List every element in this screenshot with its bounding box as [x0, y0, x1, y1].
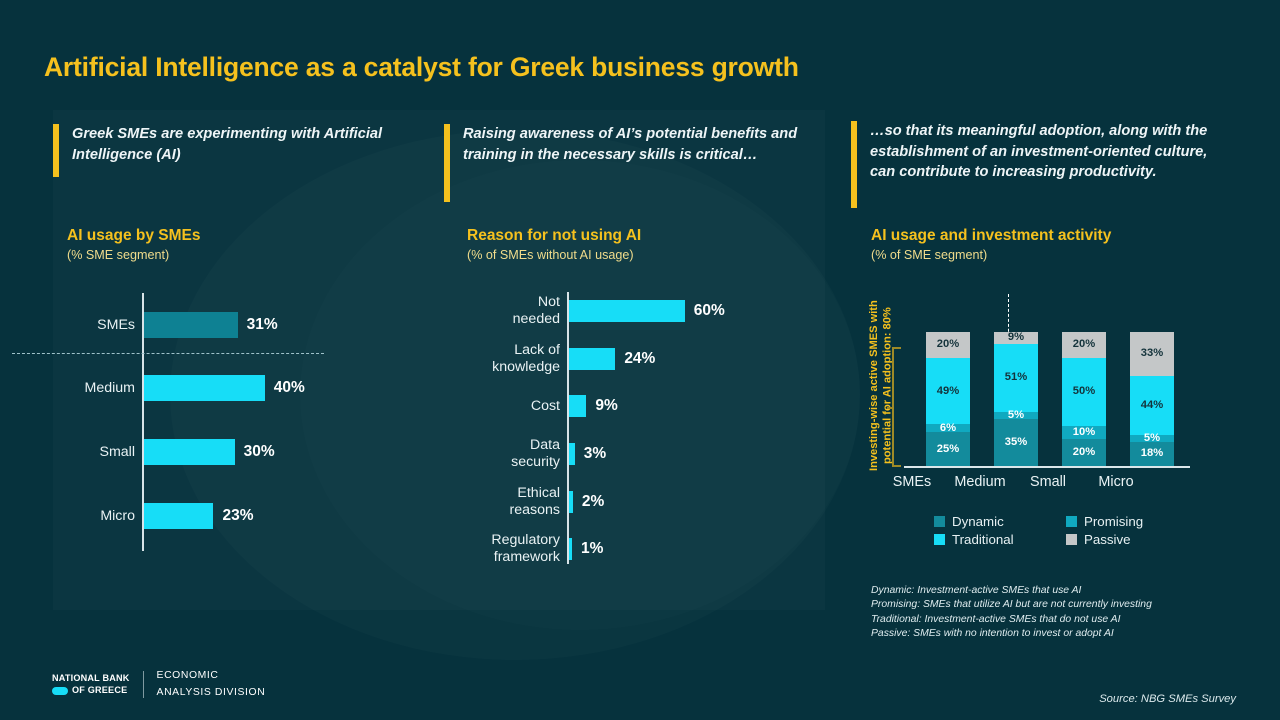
bar-row: Ethical reasons2% [569, 488, 604, 516]
chart-title-2: Reason for not using AI [467, 226, 641, 245]
stack-segment-label: 49% [937, 386, 959, 397]
chart-ai-usage-by-smes: SMEs31%Medium40%Small30%Micro23% [60, 293, 400, 551]
bar-rect [569, 443, 575, 465]
callout-panel-1: Greek SMEs are experimenting with Artifi… [53, 124, 423, 177]
bar-rect [144, 312, 238, 338]
stack-segment-dynamic: 35% [994, 419, 1038, 466]
division-line1: ECONOMIC [157, 668, 266, 685]
bar-category-label: Ethical reasons [510, 485, 560, 519]
bar-value-label: 60% [694, 302, 725, 320]
bar-category-label: Small [100, 444, 135, 461]
bar-category-label: SMEs [97, 317, 135, 334]
bar-rect [569, 300, 685, 322]
stack-segment-label: 20% [1073, 447, 1095, 458]
chart3-category-label: Micro [1076, 474, 1156, 490]
stacked-column: 25%6%49%20% [926, 332, 970, 466]
callout-accent-bar [444, 124, 450, 202]
chart-title-1: AI usage by SMEs [67, 226, 201, 245]
nbg-oval-icon [52, 687, 68, 695]
footnotes-block: Dynamic: Investment-active SMEs that use… [871, 584, 1211, 642]
legend-swatch-icon [1066, 516, 1077, 527]
bar-row: Not needed60% [569, 297, 725, 325]
nbg-logo-line2-wrap: OF GREECE [52, 685, 130, 697]
bar-category-label: Lack of knowledge [492, 342, 560, 376]
stack-segment-traditional: 50% [1062, 358, 1106, 425]
callout-text-3: …so that its meaningful adoption, along … [870, 121, 1221, 183]
footnote-1: Dynamic: Investment-active SMEs that use… [871, 584, 1211, 598]
nbg-logo: NATIONAL BANK OF GREECE [52, 673, 130, 696]
legend-item-passive[interactable]: Passive [1066, 532, 1198, 547]
chart-heading-1: AI usage by SMEs (% SME segment) [67, 226, 201, 264]
category-separator [12, 353, 324, 354]
footnote-3: Traditional: Investment-active SMEs that… [871, 613, 1211, 627]
bar-value-label: 3% [584, 445, 606, 463]
stack-segment-label: 44% [1141, 400, 1163, 411]
chart3-bracket [892, 347, 901, 467]
stack-segment-promising: 5% [994, 412, 1038, 419]
callout-accent-bar [53, 124, 59, 177]
source-note: Source: NBG SMEs Survey [1099, 693, 1236, 705]
chart-subtitle-1: (% SME segment) [67, 247, 201, 263]
bar-category-label: Cost [531, 398, 560, 415]
callout-panel-2: Raising awareness of AI’s potential bene… [444, 124, 804, 202]
callout-accent-bar [851, 121, 857, 208]
bar-value-label: 9% [595, 397, 617, 415]
stack-segment-label: 51% [1005, 372, 1027, 383]
stacked-column: 20%10%50%20% [1062, 332, 1106, 466]
footnote-4: Passive: SMEs with no intention to inves… [871, 627, 1211, 641]
legend-label: Promising [1084, 514, 1143, 529]
slide-root: Artificial Intelligence as a catalyst fo… [0, 0, 1280, 720]
stack-segment-dynamic: 25% [926, 432, 970, 466]
legend-label: Traditional [952, 532, 1014, 547]
bar-value-label: 23% [222, 507, 253, 525]
stack-segment-passive: 33% [1130, 332, 1174, 376]
stack-segment-promising: 10% [1062, 426, 1106, 439]
bar-rect [569, 348, 615, 370]
stack-segment-label: 50% [1073, 386, 1095, 397]
page-title: Artificial Intelligence as a catalyst fo… [44, 52, 799, 83]
bar-rect [144, 503, 213, 529]
chart-heading-3: AI usage and investment activity (% of S… [871, 226, 1111, 264]
legend-item-promising[interactable]: Promising [1066, 514, 1198, 529]
stack-segment-promising: 6% [926, 424, 970, 432]
bar-rect [569, 538, 572, 560]
stack-segment-passive: 20% [1062, 332, 1106, 359]
bar-row: Data security3% [569, 440, 606, 468]
bar-row: Medium40% [144, 374, 305, 402]
stack-segment-traditional: 49% [926, 358, 970, 424]
legend-swatch-icon [934, 534, 945, 545]
stack-segment-dynamic: 18% [1130, 442, 1174, 466]
division-line2: ANALYSIS DIVISION [157, 685, 266, 702]
footnote-2: Promising: SMEs that utilize AI but are … [871, 598, 1211, 612]
bar-category-label: Micro [100, 508, 135, 525]
footer-divider [143, 671, 144, 698]
nbg-logo-line2: OF GREECE [72, 685, 127, 697]
stack-segment-passive: 9% [994, 332, 1038, 344]
chart3-baseline [904, 466, 1190, 468]
stack-segment-traditional: 51% [994, 344, 1038, 413]
bar-category-label: Medium [85, 380, 135, 397]
legend-label: Dynamic [952, 514, 1004, 529]
legend-item-dynamic[interactable]: Dynamic [934, 514, 1066, 529]
stacked-bars-plot: 25%6%49%20%35%5%51%9%20%10%50%20%18%5%44… [904, 298, 1190, 466]
callout-text-1: Greek SMEs are experimenting with Artifi… [72, 124, 423, 165]
callout-text-2: Raising awareness of AI’s potential bene… [463, 124, 804, 165]
legend-label: Passive [1084, 532, 1131, 547]
bar-rect [144, 439, 235, 465]
bar-value-label: 40% [274, 379, 305, 397]
stack-segment-label: 20% [937, 339, 959, 350]
stack-segment-traditional: 44% [1130, 376, 1174, 435]
bar-value-label: 2% [582, 493, 604, 511]
stack-segment-label: 20% [1073, 339, 1095, 350]
stack-segment-label: 35% [1005, 437, 1027, 448]
nbg-logo-line1: NATIONAL BANK [52, 673, 130, 685]
chart-subtitle-3: (% of SME segment) [871, 247, 1111, 263]
bar-value-label: 30% [244, 443, 275, 461]
chart-title-3: AI usage and investment activity [871, 226, 1111, 245]
footer-logo: NATIONAL BANK OF GREECE ECONOMIC ANALYSI… [52, 668, 265, 702]
chart-reason-for-not-using-ai: Not needed60%Lack of knowledge24%Cost9%D… [452, 292, 762, 580]
stack-segment-passive: 20% [926, 332, 970, 359]
bar-rect [144, 375, 265, 401]
stack-segment-label: 18% [1141, 448, 1163, 459]
bar-row: Regulatory framework1% [569, 535, 603, 563]
bar-row: Cost9% [569, 392, 618, 420]
chart-ai-usage-and-investment-activity: Investing-wise active SMES with potentia… [868, 298, 1198, 513]
chart3-legend: DynamicPromisingTraditionalPassive [934, 514, 1199, 547]
bar-category-label: Data security [511, 437, 560, 471]
legend-swatch-icon [1066, 534, 1077, 545]
chart-axis-line [567, 292, 569, 564]
chart-heading-2: Reason for not using AI (% of SMEs witho… [467, 226, 641, 264]
stack-segment-label: 9% [1008, 332, 1024, 343]
bar-category-label: Not needed [513, 294, 560, 328]
chart3-axis-note: Investing-wise active SMES with potentia… [868, 298, 886, 474]
bar-row: SMEs31% [144, 311, 278, 339]
bar-value-label: 1% [581, 540, 603, 558]
stack-segment-label: 25% [937, 444, 959, 455]
division-name: ECONOMIC ANALYSIS DIVISION [157, 668, 266, 702]
bar-row: Micro23% [144, 502, 253, 530]
stack-segment-label: 33% [1141, 348, 1163, 359]
legend-swatch-icon [934, 516, 945, 527]
stacked-column: 18%5%44%33% [1130, 332, 1174, 466]
bar-value-label: 31% [247, 316, 278, 334]
bar-row: Small30% [144, 438, 275, 466]
stack-segment-label: 10% [1073, 427, 1095, 438]
stack-segment-promising: 5% [1130, 435, 1174, 442]
bar-category-label: Regulatory framework [491, 532, 560, 566]
bar-rect [569, 491, 573, 513]
chart-subtitle-2: (% of SMEs without AI usage) [467, 247, 641, 263]
legend-item-traditional[interactable]: Traditional [934, 532, 1066, 547]
callout-panel-3: …so that its meaningful adoption, along … [851, 121, 1221, 208]
stack-segment-dynamic: 20% [1062, 439, 1106, 466]
stacked-column: 35%5%51%9% [994, 332, 1038, 466]
bar-rect [569, 395, 586, 417]
bar-row: Lack of knowledge24% [569, 345, 655, 373]
bar-value-label: 24% [624, 350, 655, 368]
